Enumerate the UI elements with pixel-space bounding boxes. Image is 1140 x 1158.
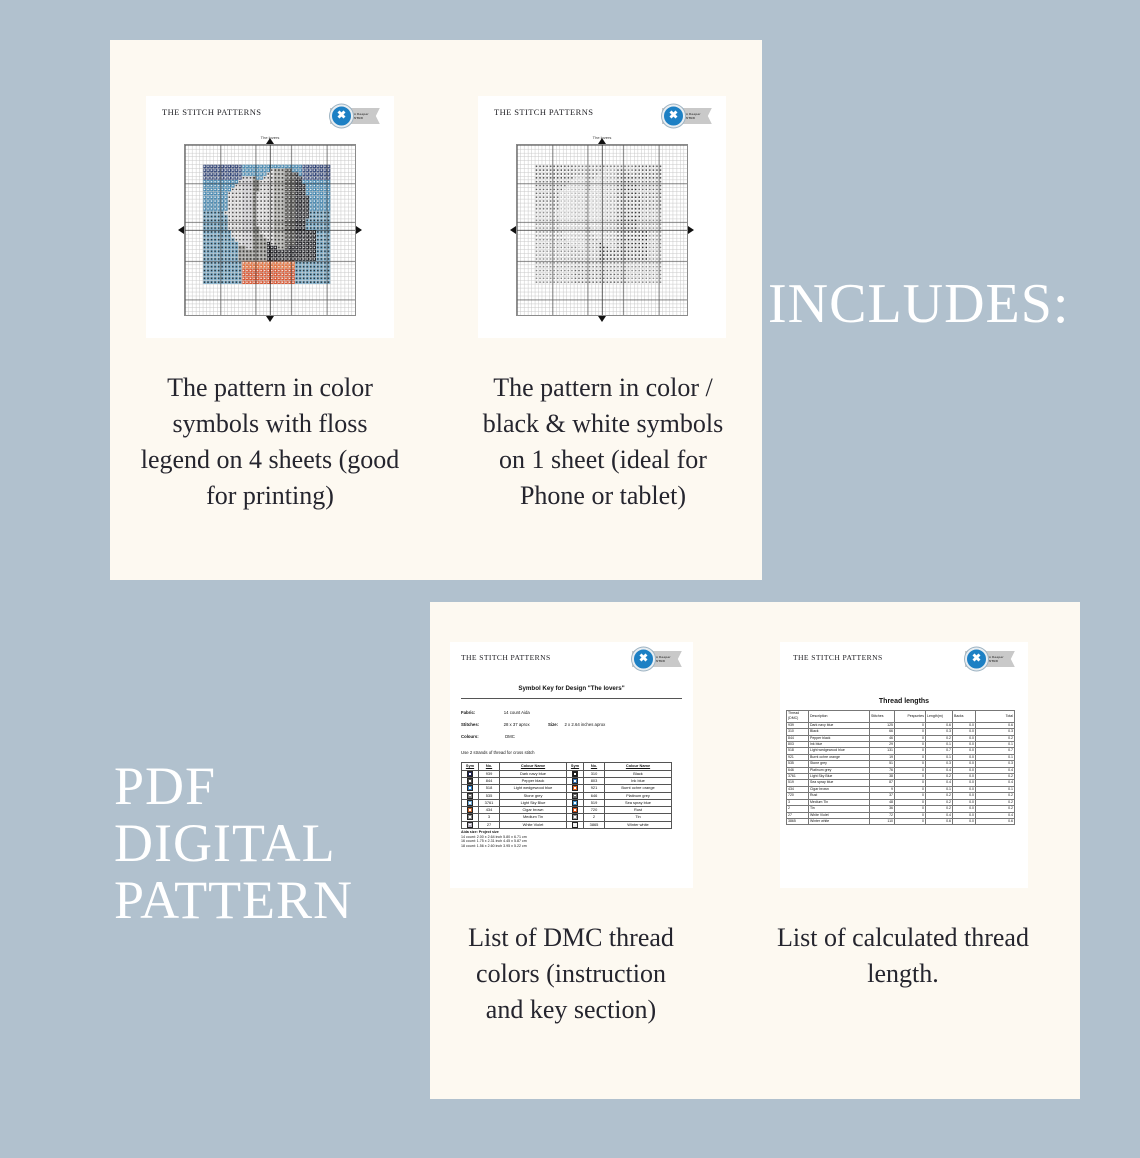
key-symbol-swatch — [567, 821, 584, 828]
caption-dmc-list: List of DMC thread colors (instruction a… — [455, 920, 687, 1028]
key-colour-name: Sea spray blue — [605, 799, 672, 806]
aida-title: Aida size: Project size — [461, 830, 499, 834]
symbol-key-title: Symbol Key for Design "The lovers" — [450, 685, 693, 692]
key-col-sym: Sym — [567, 763, 584, 771]
key-thread-no: 535 — [479, 792, 500, 799]
key-thread-no: 3761 — [479, 799, 500, 806]
key-colour-name: Light wedgewood blue — [500, 785, 567, 792]
key-symbol-swatch — [567, 814, 584, 821]
key-colour-name: Light Sky Blue — [500, 799, 567, 806]
tl-col-threaddmc: Thread(DMC) — [787, 711, 809, 723]
tl-cell: 110 — [870, 818, 895, 824]
fabric-row: Fabric: 14 count Aida — [461, 710, 530, 715]
key-row: 518Light wedgewood blue921Burnt ochre or… — [462, 785, 672, 792]
key-thread-no: 434 — [479, 807, 500, 814]
sheet-brand-title: THE STITCH PATTERNS — [494, 107, 593, 117]
key-symbol-swatch — [567, 799, 584, 806]
key-thread-no: 27 — [479, 821, 500, 828]
tl-col-pespuntes: Pespuntes — [895, 711, 926, 723]
strands-note: Use 2 strands of thread for cross stitch — [461, 750, 535, 755]
tl-col-description: Description — [809, 711, 870, 723]
caption-bw-symbols: The pattern in color / black & white sym… — [470, 370, 736, 514]
size-value: 2 x 2.64 inches aprox — [564, 722, 605, 727]
pattern-keeper-badge: ✖ Pattern Keeper TESTED — [662, 108, 712, 124]
key-symbol-swatch — [567, 792, 584, 799]
center-tick-right — [356, 226, 362, 234]
thread-lengths-table: Thread(DMC)DescriptionStitchesPespuntesL… — [786, 710, 1015, 825]
key-row: 535Stone grey646Platinum grey — [462, 792, 672, 799]
pattern-sheet-thread-lengths[interactable]: THE STITCH PATTERNS ✖ Pattern Keeper TES… — [780, 642, 1028, 888]
bw-symbol-chart: The lovers — [516, 144, 688, 316]
key-colour-name: White Violet — [500, 821, 567, 828]
pattern-keeper-badge: ✖ Pattern Keeper TESTED — [965, 651, 1015, 667]
tl-col-backs: Backs — [953, 711, 976, 723]
fabric-value: 14 count Aida — [504, 710, 530, 715]
key-thread-no: 720 — [584, 807, 605, 814]
sheet-brand-title: THE STITCH PATTERNS — [793, 653, 883, 662]
pdf-line-2: DIGITAL — [114, 815, 353, 872]
colours-label: Colours: — [461, 734, 479, 739]
key-row: 434Cigar brown720Rust — [462, 807, 672, 814]
key-thread-no: 3 — [479, 814, 500, 821]
key-symbol-swatch — [462, 785, 479, 792]
key-symbol-swatch — [462, 771, 479, 778]
aida-line-1: 16 count: 1.75 x 2.31 inch 4.45 x 5.87 c… — [461, 839, 527, 843]
key-symbol-swatch — [462, 792, 479, 799]
x-seal-icon: ✖ — [330, 105, 353, 128]
aida-line-0: 14 count: 2.00 x 2.64 inch 5.80 x 6.71 c… — [461, 835, 527, 839]
aida-size-block: Aida size: Project size 14 count: 2.00 x… — [461, 830, 527, 848]
tl-cell: 3865 — [787, 818, 809, 824]
tl-col-stitches: Stitches — [870, 711, 895, 723]
sheet-brand-title: THE STITCH PATTERNS — [162, 107, 261, 117]
key-colour-name: Cigar brown — [500, 807, 567, 814]
x-seal-icon: ✖ — [632, 648, 655, 671]
center-tick-top — [266, 138, 274, 144]
key-colour-name: Platinum grey — [605, 792, 672, 799]
key-colour-name: Winter white — [605, 821, 672, 828]
stitches-row: Stitches: 28 x 37 aprox Size: 2 x 2.64 i… — [461, 722, 605, 727]
key-symbol-swatch — [462, 821, 479, 828]
key-row: 844Pepper black803Ink blue — [462, 778, 672, 785]
stitches-value: 28 x 37 aprox — [504, 722, 530, 727]
caption-thread-length: List of calculated thread length. — [772, 920, 1034, 992]
key-thread-no: 921 — [584, 785, 605, 792]
key-symbol-swatch — [567, 778, 584, 785]
key-col-no: No. — [479, 763, 500, 771]
key-thread-no: 803 — [584, 778, 605, 785]
x-seal-icon: ✖ — [965, 648, 988, 671]
key-colour-name: Ink blue — [605, 778, 672, 785]
pattern-sheet-color-symbols[interactable]: THE STITCH PATTERNS ✖ Pattern Keeper TES… — [146, 96, 394, 338]
key-thread-no: 3865 — [584, 821, 605, 828]
colours-value: DMC — [505, 734, 515, 739]
key-symbol-swatch — [462, 814, 479, 821]
thread-lengths-title: Thread lengths — [780, 698, 1028, 705]
stitches-label: Stitches: — [461, 722, 479, 727]
key-col-no: No. — [584, 763, 605, 771]
key-thread-no: 844 — [479, 778, 500, 785]
center-tick-bottom — [598, 316, 606, 322]
key-symbol-swatch — [567, 785, 584, 792]
pdf-digital-pattern-heading: PDF DIGITAL PATTERN — [114, 758, 353, 929]
key-thread-no: 518 — [479, 785, 500, 792]
tl-cell: 0.0 — [953, 818, 976, 824]
key-row: 3761Light Sky Blue519Sea spray blue — [462, 799, 672, 806]
aida-line-2: 18 count: 1.56 x 2.60 inch 3.95 x 5.22 c… — [461, 844, 527, 848]
key-thread-no: 646 — [584, 792, 605, 799]
tl-col-total: Total — [976, 711, 1015, 723]
key-symbol-swatch — [462, 799, 479, 806]
center-tick-left — [178, 226, 184, 234]
key-col-sym: Sym — [462, 763, 479, 771]
key-thread-no: 2 — [584, 814, 605, 821]
key-symbol-swatch — [567, 807, 584, 814]
x-seal-icon: ✖ — [662, 105, 685, 128]
key-divider — [461, 698, 682, 699]
key-colour-name: Stone grey — [500, 792, 567, 799]
tl-cell: 0.6 — [976, 818, 1015, 824]
center-tick-left — [510, 226, 516, 234]
tl-row: 3865Winter white11000.60.00.6 — [787, 818, 1015, 824]
key-col-colourname: Colour Name — [500, 763, 567, 771]
key-thread-no: 310 — [584, 771, 605, 778]
pdf-line-3: PATTERN — [114, 872, 353, 929]
tl-col-lengthm: Length(m) — [926, 711, 953, 723]
key-row: 3Medium Tin2Tin — [462, 814, 672, 821]
tl-cell: 0 — [895, 818, 926, 824]
size-label: Size: — [548, 722, 558, 727]
key-thread-no: 939 — [479, 771, 500, 778]
key-row: 939Dark navy blue310Black — [462, 771, 672, 778]
key-row: 27White Violet3865Winter white — [462, 821, 672, 828]
key-col-colourname: Colour Name — [605, 763, 672, 771]
pdf-line-1: PDF — [114, 758, 353, 815]
key-colour-name: Tin — [605, 814, 672, 821]
pattern-sheet-bw-symbols[interactable]: THE STITCH PATTERNS ✖ Pattern Keeper TES… — [478, 96, 726, 338]
color-symbol-chart: The lovers — [184, 144, 356, 316]
pattern-keeper-badge: ✖ Pattern Keeper TESTED — [330, 108, 380, 124]
key-symbol-swatch — [462, 807, 479, 814]
symbol-key-table: SymNo.Colour NameSymNo.Colour Name 939Da… — [461, 762, 672, 829]
key-colour-name: Dark navy blue — [500, 771, 567, 778]
includes-heading: INCLUDES: — [768, 274, 1069, 334]
sheet-brand-title: THE STITCH PATTERNS — [461, 653, 551, 662]
colours-row: Colours: DMC — [461, 734, 515, 739]
caption-color-symbols: The pattern in color symbols with floss … — [140, 370, 400, 514]
key-symbol-swatch — [567, 771, 584, 778]
tl-cell: 0.6 — [926, 818, 953, 824]
key-colour-name: Burnt ochre orange — [605, 785, 672, 792]
fabric-label: Fabric: — [461, 710, 475, 715]
key-colour-name: Rust — [605, 807, 672, 814]
tl-cell: Winter white — [809, 818, 870, 824]
center-tick-bottom — [266, 316, 274, 322]
key-colour-name: Medium Tin — [500, 814, 567, 821]
key-colour-name: Pepper black — [500, 778, 567, 785]
pattern-keeper-badge: ✖ Pattern Keeper TESTED — [632, 651, 682, 667]
key-symbol-swatch — [462, 778, 479, 785]
center-tick-right — [688, 226, 694, 234]
key-colour-name: Black — [605, 771, 672, 778]
pattern-sheet-dmc-key[interactable]: THE STITCH PATTERNS ✖ Pattern Keeper TES… — [450, 642, 693, 888]
key-thread-no: 519 — [584, 799, 605, 806]
center-tick-top — [598, 138, 606, 144]
